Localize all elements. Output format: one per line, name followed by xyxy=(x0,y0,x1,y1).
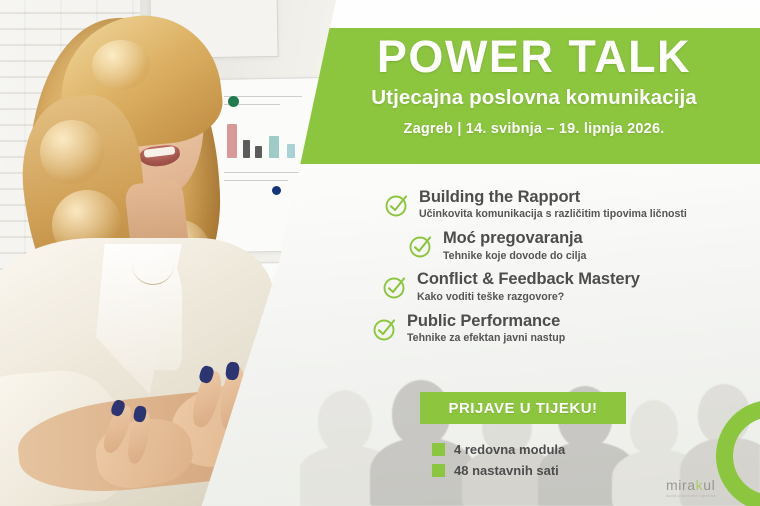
promo-banner: POWER TALK Utjecajna poslovna komunikaci… xyxy=(0,0,760,506)
list-item: Public Performance Tehnike za efektan ja… xyxy=(372,312,720,346)
list-item-subtext: Tehnike za efektan javni nastup xyxy=(407,332,565,346)
list-item-subtext: Tehnike koje dovode do cilja xyxy=(443,250,586,264)
registration-cta-button[interactable]: PRIJAVE U TIJEKU! xyxy=(420,392,626,424)
mirakul-logo: mirakul škola poslovnih vještina xyxy=(666,478,716,498)
list-item-heading: Public Performance xyxy=(407,312,560,330)
feature-list: Building the Rapport Učinkovita komunika… xyxy=(376,188,720,353)
check-circle-icon xyxy=(382,274,408,300)
list-item: Conflict & Feedback Mastery Kako voditi … xyxy=(382,270,720,304)
header-subtitle: Utjecajna poslovna komunikacija xyxy=(353,86,697,110)
list-item: Building the Rapport Učinkovita komunika… xyxy=(384,188,720,222)
course-details-list: 4 redovna modula 48 nastavnih sati xyxy=(432,442,565,484)
header-text-block: POWER TALK Utjecajna poslovna komunikaci… xyxy=(286,28,760,164)
square-bullet-icon xyxy=(432,443,445,456)
course-detail-label: 4 redovna modula xyxy=(454,442,565,457)
logo-tagline: škola poslovnih vještina xyxy=(666,494,716,498)
list-item: Moć pregovaranja Tehnike koje dovode do … xyxy=(408,229,720,263)
registration-cta-label: PRIJAVE U TIJEKU! xyxy=(448,400,597,417)
page-title: POWER TALK xyxy=(359,34,691,80)
logo-text-part3: ul xyxy=(703,477,715,493)
list-item-heading: Conflict & Feedback Mastery xyxy=(417,270,640,288)
check-circle-icon xyxy=(408,233,434,259)
check-circle-icon xyxy=(384,192,410,218)
logo-wordmark: mirakul xyxy=(666,478,716,492)
list-item: 48 nastavnih sati xyxy=(432,463,565,478)
header-dateline: Zagreb | 14. svibnja – 19. lipnja 2026. xyxy=(386,121,665,137)
list-item-heading: Moć pregovaranja xyxy=(443,229,583,247)
course-detail-label: 48 nastavnih sati xyxy=(454,463,559,478)
list-item-subtext: Kako voditi teške razgovore? xyxy=(417,291,640,305)
list-item-heading: Building the Rapport xyxy=(419,188,687,206)
square-bullet-icon xyxy=(432,464,445,477)
list-item: 4 redovna modula xyxy=(432,442,565,457)
logo-text-part1: mira xyxy=(666,477,696,493)
list-item-subtext: Učinkovita komunikacija s različitim tip… xyxy=(419,208,687,222)
check-circle-icon xyxy=(372,316,398,342)
